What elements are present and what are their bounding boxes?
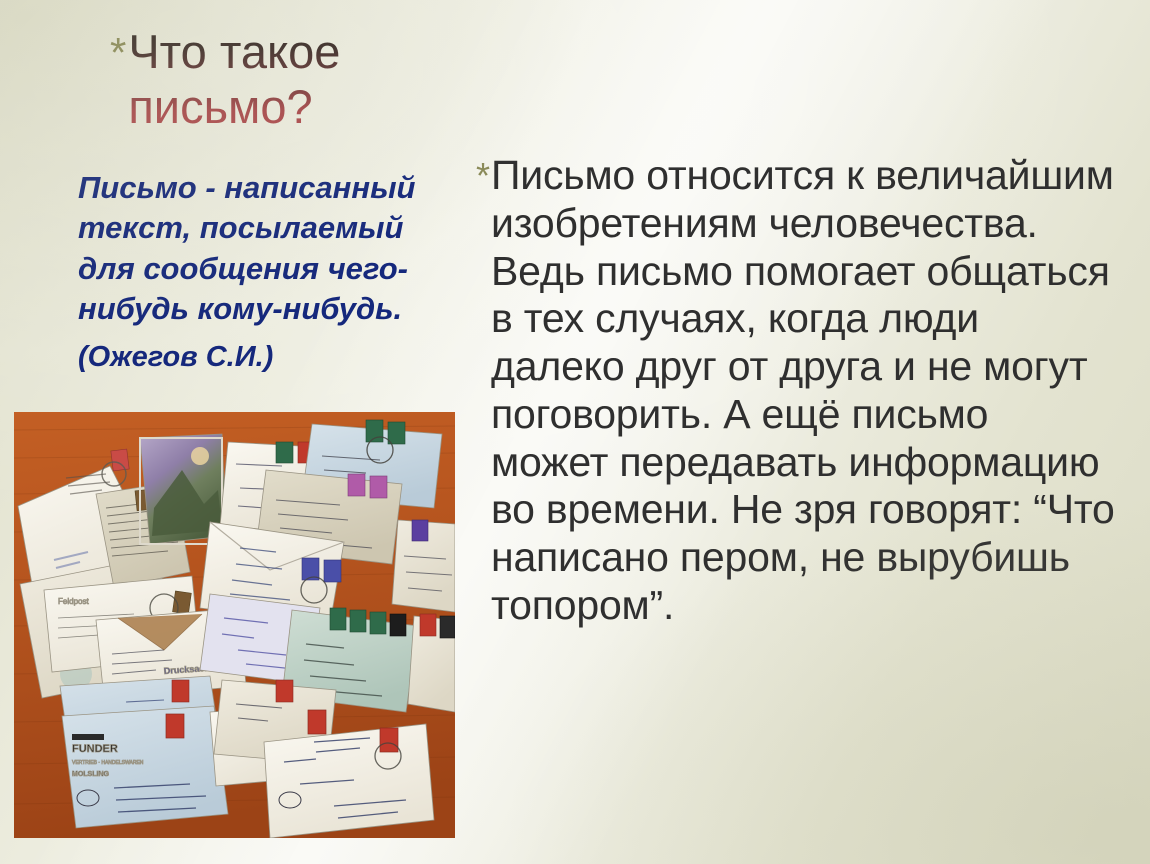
body-text: Письмо относится к величайшим изобретени… [491,152,1116,630]
definition-block: Письмо - написанный текст, посылаемый дл… [78,168,428,377]
slide-title: * Что такое письмо? [110,24,470,135]
svg-text:VERTRIEB · HANDELSWAREN: VERTRIEB · HANDELSWAREN [72,760,144,766]
definition-source: (Ожегов С.И.) [78,339,428,377]
svg-text:MOLSLING: MOLSLING [72,771,109,778]
letters-photo-illustration: Drucks OTTO BAU [14,412,455,838]
asterisk-bullet-icon: * [476,158,490,194]
svg-text:Feldpost: Feldpost [58,597,89,606]
definition-text: Письмо - написанный текст, посылаемый дл… [78,168,428,329]
letters-photo: Drucks OTTO BAU [14,412,455,838]
asterisk-bullet-icon: * [110,32,126,74]
page-title: Что такое письмо? [128,24,470,135]
presentation-slide: * Что такое письмо? Письмо - написанный … [0,0,1150,864]
body-block: * Письмо относится к величайшим изобрете… [476,152,1116,630]
svg-text:FUNDER: FUNDER [72,743,118,755]
